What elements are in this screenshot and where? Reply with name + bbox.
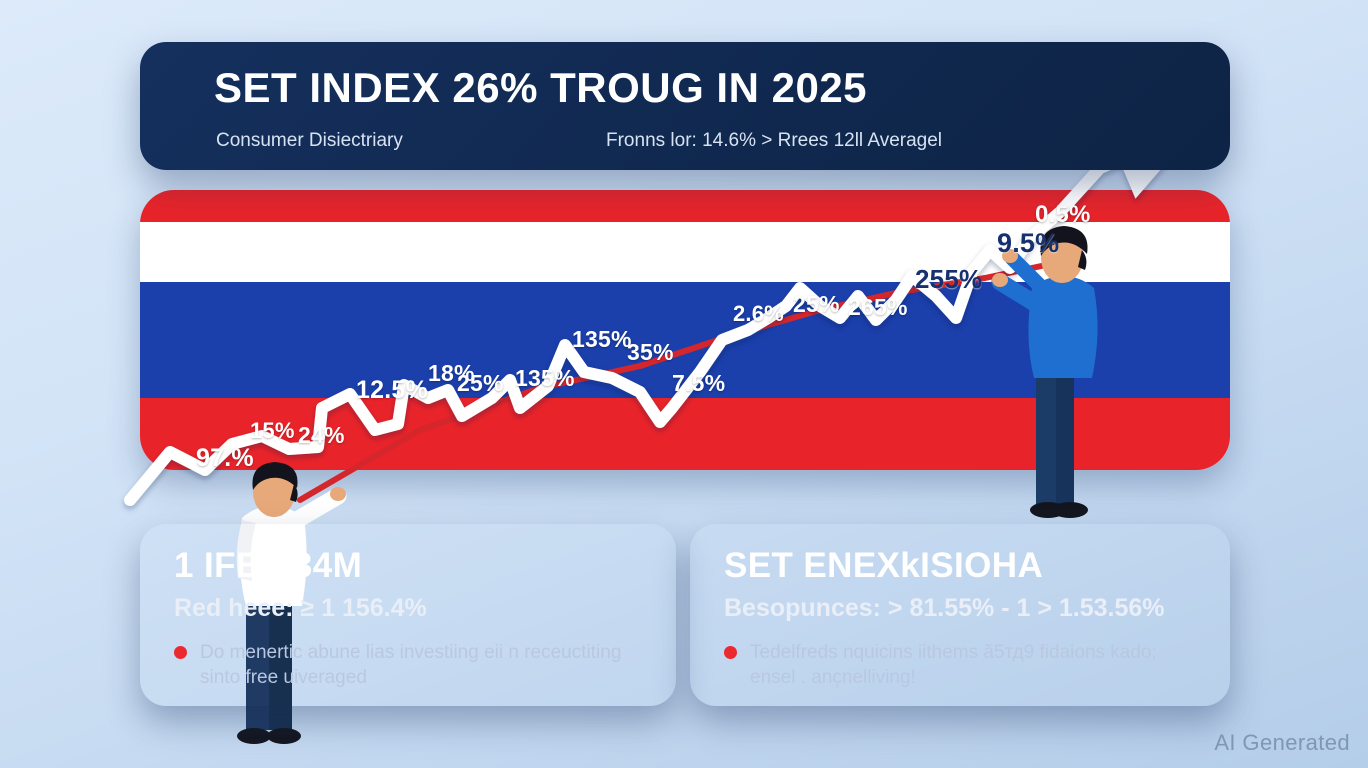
stat-card-right-body: Tedelfreds nquicins iithems ă5тд9 fidaio… — [750, 640, 1194, 690]
stat-card-left-body: Do menertic abune lias investiing eii n … — [200, 640, 644, 690]
value-label: 265% — [848, 296, 908, 319]
header-card: SET INDEX 26% TROUG IN 2025 Consumer Dis… — [140, 42, 1230, 170]
value-label: 7.5% — [672, 372, 725, 395]
value-label: 255% — [915, 266, 982, 292]
stat-card-left: 1 IFEY 34M Red heee: ≥ 1 156.4% Do mener… — [140, 524, 676, 706]
value-label: 35% — [627, 341, 674, 364]
bullet-dot-icon — [724, 646, 737, 659]
value-label: 97.% — [196, 446, 254, 471]
value-label: 0.5% — [1035, 203, 1091, 227]
stat-card-left-bullet: Do menertic abune lias investiing eii n … — [174, 640, 644, 690]
stat-card-right: SET ENEXkISIOHA Besopunces: > 81.55% - 1… — [690, 524, 1230, 706]
value-label: 135% — [515, 367, 575, 390]
value-label: 135% — [572, 328, 632, 351]
stat-card-right-title: SET ENEXkISIOHA — [724, 546, 1043, 586]
value-label: 25% — [793, 293, 840, 316]
stat-card-left-title: 1 IFEY 34M — [174, 546, 362, 586]
value-label: 2.6% — [733, 303, 784, 325]
bullet-dot-icon — [174, 646, 187, 659]
infographic-canvas: 97.%15%24%12.5%18%25%135%135%35%7.5%2.6%… — [0, 0, 1368, 768]
value-label: 25% — [457, 372, 504, 395]
ai-generated-watermark: AI Generated — [1214, 730, 1350, 756]
value-label: 24% — [298, 424, 345, 447]
stat-card-left-subtitle: Red heee: ≥ 1 156.4% — [174, 594, 427, 623]
header-subtitle-right: Fronns lor: 14.6% > Rrees 12ll Averagel — [606, 130, 942, 152]
value-label: 12.5% — [356, 378, 428, 403]
header-subtitle-left: Consumer Disiectriary — [216, 130, 403, 152]
stat-card-right-bullet: Tedelfreds nquicins iithems ă5тд9 fidaio… — [724, 640, 1194, 690]
analyst-right-figure — [996, 224, 1126, 524]
value-label: 15% — [250, 420, 295, 442]
page-title: SET INDEX 26% TROUG IN 2025 — [214, 64, 867, 112]
stat-card-right-subtitle: Besopunces: > 81.55% - 1 > 1.53.56% — [724, 594, 1165, 623]
value-label: 9.5% — [997, 230, 1059, 257]
